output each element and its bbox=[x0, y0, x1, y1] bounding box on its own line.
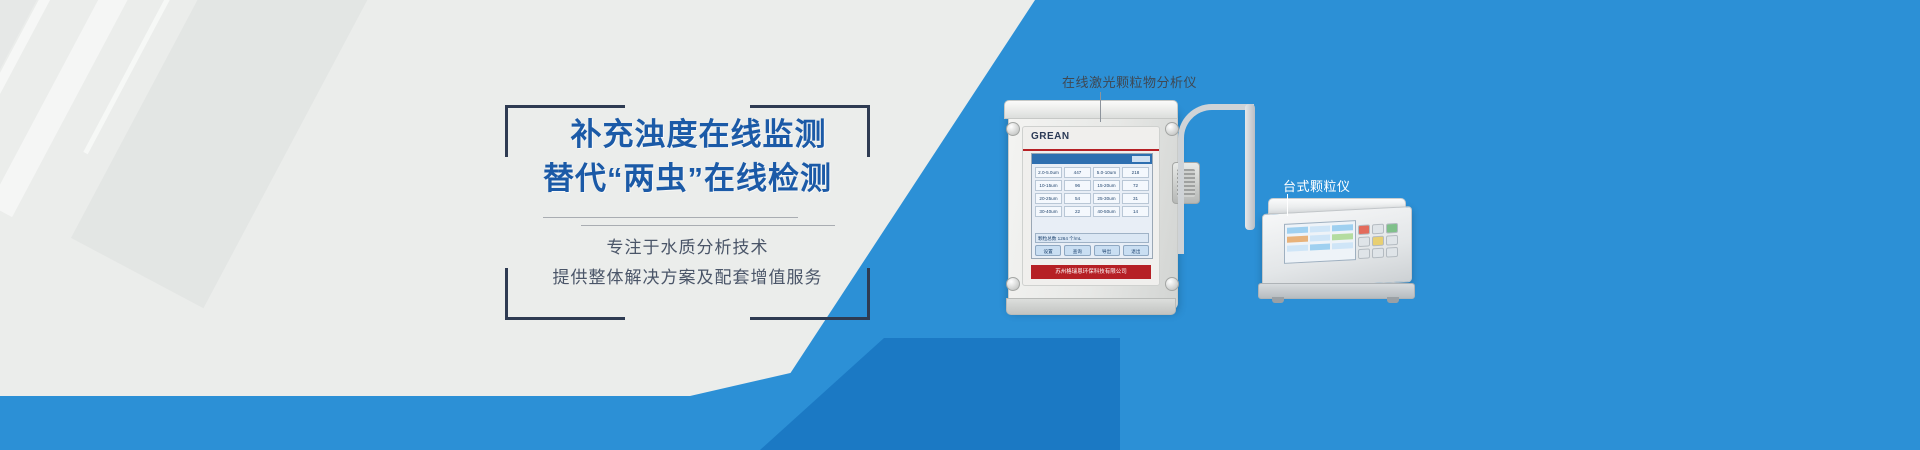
display-button[interactable]: 导出 bbox=[1094, 245, 1120, 256]
analyzer-lid bbox=[1004, 100, 1178, 119]
analyzer-front-panel: GREAN 2.0-5.0um 447 5.0-10um 218 10-15um… bbox=[1022, 126, 1160, 286]
benchtop-display bbox=[1284, 220, 1356, 264]
keypad-key[interactable] bbox=[1386, 223, 1398, 234]
table-row: 2.0-5.0um 447 5.0-10um 218 bbox=[1035, 167, 1149, 178]
table-cell: 5.0-10um bbox=[1093, 167, 1120, 178]
headline-line-2: 替代“两虫”在线检测 bbox=[505, 157, 870, 201]
table-cell: 218 bbox=[1122, 167, 1149, 178]
table-cell: 31 bbox=[1122, 193, 1149, 204]
bracket-top-right bbox=[750, 105, 870, 108]
keypad-key[interactable] bbox=[1386, 247, 1398, 258]
keypad-key[interactable] bbox=[1386, 235, 1398, 246]
keypad-key[interactable] bbox=[1372, 224, 1384, 235]
benchtop-display-cell bbox=[1332, 242, 1353, 249]
table-cell: 2.0-5.0um bbox=[1035, 167, 1062, 178]
benchtop-display-cell bbox=[1332, 233, 1353, 240]
analyzer-screw bbox=[1165, 277, 1179, 291]
benchtop-foot bbox=[1272, 297, 1284, 303]
analyzer-display: 2.0-5.0um 447 5.0-10um 218 10-15um 96 15… bbox=[1031, 153, 1153, 259]
analyzer-brand-bar: GREAN bbox=[1023, 127, 1159, 151]
table-cell: 30-40um bbox=[1035, 206, 1062, 217]
analyzer-base bbox=[1006, 298, 1176, 315]
benchtop-display-row bbox=[1287, 242, 1353, 251]
brand-logo: GREAN bbox=[1031, 131, 1070, 142]
benchtop-display-cell bbox=[1310, 243, 1331, 250]
table-cell: 20-25um bbox=[1035, 193, 1062, 204]
headline-block: 补充浊度在线监测 替代“两虫”在线检测 专注于水质分析技术 提供整体解决方案及配… bbox=[505, 105, 870, 320]
display-status-text: 颗粒总数 1264 个/mL bbox=[1035, 233, 1149, 243]
benchtop-display-row bbox=[1287, 233, 1353, 242]
table-cell: 54 bbox=[1064, 193, 1091, 204]
divider-line-lower bbox=[581, 225, 835, 226]
connecting-tube bbox=[1178, 104, 1254, 254]
benchtop-display-cell bbox=[1287, 245, 1308, 252]
keypad-key[interactable] bbox=[1372, 236, 1384, 247]
benchtop-display-cell bbox=[1310, 225, 1331, 232]
table-cell: 40-50um bbox=[1093, 206, 1120, 217]
display-data-grid: 2.0-5.0um 447 5.0-10um 218 10-15um 96 15… bbox=[1035, 167, 1149, 219]
subtitle-line-2: 提供整体解决方案及配套增值服务 bbox=[505, 263, 870, 293]
table-cell: 96 bbox=[1064, 180, 1091, 191]
subtitle-line-1: 专注于水质分析技术 bbox=[505, 233, 870, 263]
title-divider bbox=[543, 217, 835, 227]
table-cell: 10-15um bbox=[1035, 180, 1062, 191]
benchtop-foot bbox=[1387, 297, 1399, 303]
callout-benchtop-label: 台式颗粒仪 bbox=[1283, 176, 1351, 195]
benchtop-keypad[interactable] bbox=[1358, 223, 1398, 259]
callout-benchtop-leader bbox=[1287, 194, 1288, 216]
display-button[interactable]: 查询 bbox=[1064, 245, 1090, 256]
table-cell: 22 bbox=[1064, 206, 1091, 217]
online-laser-particle-analyzer: GREAN 2.0-5.0um 447 5.0-10um 218 10-15um… bbox=[1000, 100, 1185, 315]
callout-analyzer-leader bbox=[1100, 92, 1101, 122]
table-row: 10-15um 96 15-20um 72 bbox=[1035, 180, 1149, 191]
table-cell: 72 bbox=[1122, 180, 1149, 191]
keypad-key[interactable] bbox=[1358, 224, 1370, 235]
table-cell: 25-30um bbox=[1093, 193, 1120, 204]
analyzer-screw bbox=[1006, 122, 1020, 136]
analyzer-footer-label: 苏州格瑞恩环保科技有限公司 bbox=[1031, 265, 1151, 279]
benchtop-display-row bbox=[1287, 224, 1353, 233]
bracket-top-left bbox=[505, 105, 625, 108]
callout-analyzer-label: 在线激光颗粒物分析仪 bbox=[1062, 72, 1197, 91]
benchtop-display-cell bbox=[1310, 234, 1331, 241]
bracket-bottom-right bbox=[750, 317, 870, 320]
display-button[interactable]: 设置 bbox=[1035, 245, 1061, 256]
connecting-tube-vertical bbox=[1245, 104, 1255, 230]
keypad-key[interactable] bbox=[1358, 236, 1370, 247]
keypad-key[interactable] bbox=[1358, 248, 1370, 259]
benchtop-display-cell bbox=[1287, 236, 1308, 243]
display-button[interactable]: 退出 bbox=[1123, 245, 1149, 256]
benchtop-display-cell bbox=[1332, 224, 1353, 231]
analyzer-screw bbox=[1165, 122, 1179, 136]
keypad-key[interactable] bbox=[1372, 248, 1384, 259]
table-row: 20-25um 54 25-30um 31 bbox=[1035, 193, 1149, 204]
promo-banner: 补充浊度在线监测 替代“两虫”在线检测 专注于水质分析技术 提供整体解决方案及配… bbox=[0, 0, 1920, 450]
table-cell: 14 bbox=[1122, 206, 1149, 217]
table-row: 30-40um 22 40-50um 14 bbox=[1035, 206, 1149, 217]
subtitle-block: 专注于水质分析技术 提供整体解决方案及配套增值服务 bbox=[505, 233, 870, 293]
headline-line-1: 补充浊度在线监测 bbox=[505, 113, 870, 157]
bracket-bottom-left bbox=[505, 317, 625, 320]
analyzer-screw bbox=[1006, 277, 1020, 291]
table-cell: 447 bbox=[1064, 167, 1091, 178]
display-title-bar bbox=[1032, 154, 1152, 164]
display-button-row: 设置 查询 导出 退出 bbox=[1035, 245, 1149, 256]
divider-line-upper bbox=[543, 217, 798, 218]
benchtop-display-cell bbox=[1287, 227, 1308, 234]
benchtop-particle-counter bbox=[1258, 198, 1413, 303]
page-title: 补充浊度在线监测 替代“两虫”在线检测 bbox=[505, 113, 870, 201]
table-cell: 15-20um bbox=[1093, 180, 1120, 191]
